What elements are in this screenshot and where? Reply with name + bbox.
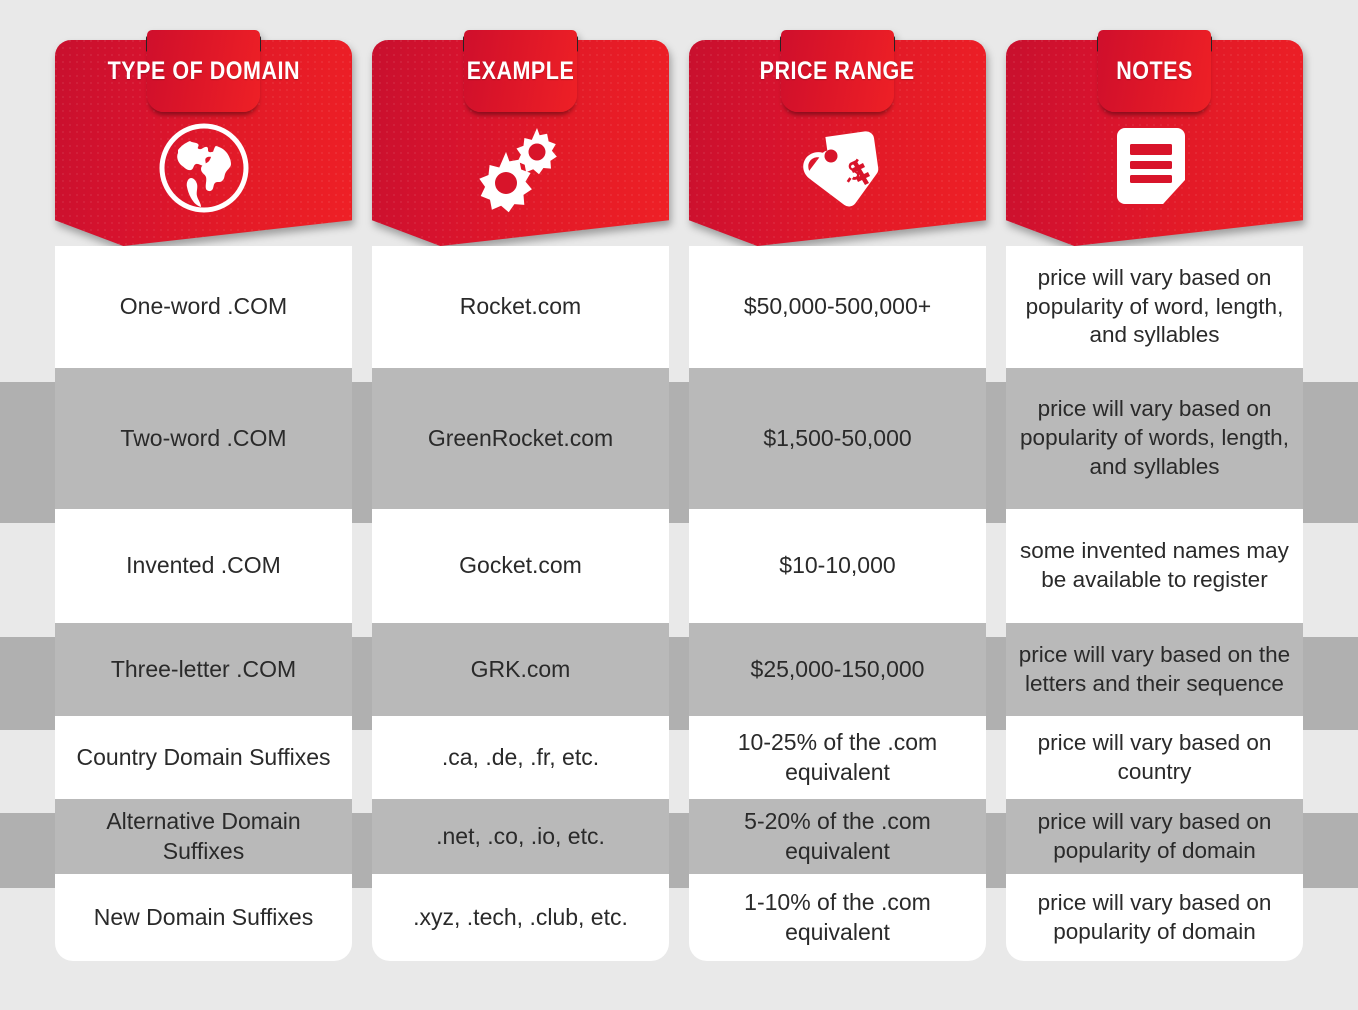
column-example: EXAMPLE Rocket.c [372,18,669,961]
header-tab: TYPE OF DOMAIN [147,30,260,112]
table-cell: Country Domain Suffixes [55,716,352,799]
table-cell: 1-10% of the .com equivalent [689,874,986,961]
header-tab: EXAMPLE [464,30,577,112]
table-cell: $25,000-150,000 [689,623,986,716]
header-tab: NOTES [1098,30,1211,112]
table-cell: Gocket.com [372,509,669,623]
column-header-notes: NOTES [1006,18,1303,246]
table-cell: .xyz, .tech, .club, etc. [372,874,669,961]
table-cell: $10-10,000 [689,509,986,623]
column-header-type-of-domain: TYPE OF DOMAIN [55,18,352,246]
table-cell: 10-25% of the .com equivalent [689,716,986,799]
table-cell: price will vary based on popularity of d… [1006,874,1303,961]
price-tag-icon [689,122,986,214]
globe-icon [55,122,352,214]
table-cell: some invented names may be available to … [1006,509,1303,623]
table-cell: New Domain Suffixes [55,874,352,961]
table-cell: $1,500-50,000 [689,368,986,509]
table-cell: Three-letter .COM [55,623,352,716]
table-columns: TYPE OF DOMAIN One-word .COM Two-word .C… [0,18,1358,961]
table-cell: GRK.com [372,623,669,716]
table-cell: 5-20% of the .com equivalent [689,799,986,874]
table-cell: Two-word .COM [55,368,352,509]
column-body-example: Rocket.com GreenRocket.com Gocket.com GR… [372,246,669,961]
gears-icon [372,122,669,214]
table-cell: One-word .COM [55,246,352,368]
column-header-example: EXAMPLE [372,18,669,246]
column-notes: NOTES price will vary based on popularit… [1006,18,1303,961]
table-cell: price will vary based on country [1006,716,1303,799]
column-type-of-domain: TYPE OF DOMAIN One-word .COM Two-word .C… [55,18,352,961]
column-title: EXAMPLE [467,57,575,86]
table-cell: price will vary based on the letters and… [1006,623,1303,716]
table-cell: $50,000-500,000+ [689,246,986,368]
column-title: PRICE RANGE [760,57,915,86]
table-cell: price will vary based on popularity of d… [1006,799,1303,874]
column-price-range: PRICE RANGE [689,18,986,961]
header-tab: PRICE RANGE [781,30,894,112]
domain-pricing-infographic: TYPE OF DOMAIN One-word .COM Two-word .C… [0,0,1358,1010]
table-cell: .net, .co, .io, etc. [372,799,669,874]
column-body-type-of-domain: One-word .COM Two-word .COM Invented .CO… [55,246,352,961]
column-header-price-range: PRICE RANGE [689,18,986,246]
note-document-icon [1006,122,1303,214]
table-cell: price will vary based on popularity of w… [1006,246,1303,368]
table-cell: Rocket.com [372,246,669,368]
column-title: TYPE OF DOMAIN [107,57,299,86]
table-cell: .ca, .de, .fr, etc. [372,716,669,799]
table-cell: GreenRocket.com [372,368,669,509]
column-title: NOTES [1116,57,1193,86]
table-cell: Alternative Domain Suffixes [55,799,352,874]
table-cell: Invented .COM [55,509,352,623]
column-body-price-range: $50,000-500,000+ $1,500-50,000 $10-10,00… [689,246,986,961]
column-body-notes: price will vary based on popularity of w… [1006,246,1303,961]
table-cell: price will vary based on popularity of w… [1006,368,1303,509]
